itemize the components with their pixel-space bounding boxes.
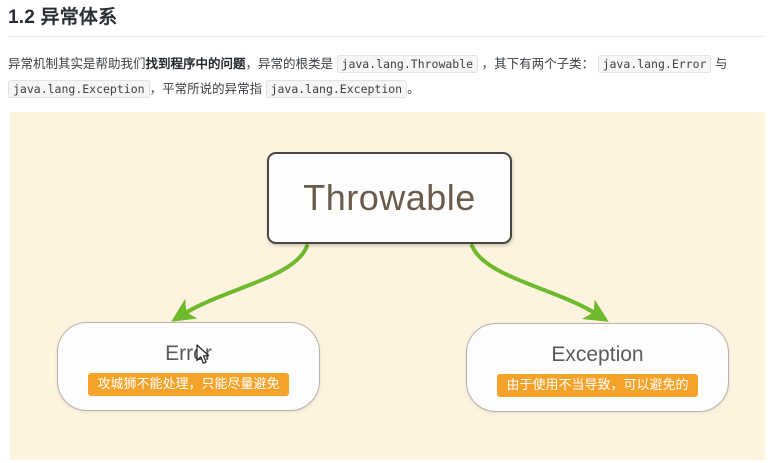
paragraph-text-4: 与 — [715, 57, 728, 71]
heading-divider — [8, 36, 766, 37]
page-title: 1.2 异常体系 — [8, 2, 117, 29]
code-chip-exception: java.lang.Exception — [8, 80, 150, 98]
paragraph-emphasis: 找到程序中的问题 — [146, 57, 246, 71]
arrow-throwable-to-exception — [472, 246, 598, 315]
node-exception-note: 由于使用不当导致，可以避免的 — [497, 374, 697, 397]
code-chip-exception-2: java.lang.Exception — [266, 80, 408, 98]
node-throwable-label: Throwable — [303, 180, 476, 216]
arrow-throwable-to-error — [182, 246, 307, 315]
paragraph-text-6: 。 — [407, 82, 420, 96]
node-error[interactable]: Error 攻城狮不能处理，只能尽量避免 — [57, 322, 320, 411]
code-chip-throwable: java.lang.Throwable — [337, 55, 479, 73]
paragraph-text-3: ，其下有两个子类： — [482, 57, 595, 71]
code-chip-error: java.lang.Error — [598, 55, 712, 73]
paragraph-text-2: ，异常的根类是 — [246, 57, 334, 71]
exception-hierarchy-diagram: Throwable Error 攻城狮不能处理，只能尽量避免 Exception… — [10, 112, 765, 460]
node-error-note: 攻城狮不能处理，只能尽量避免 — [88, 373, 288, 396]
node-error-label: Error — [165, 343, 212, 364]
node-exception-label: Exception — [551, 344, 643, 365]
intro-paragraph: 异常机制其实是帮助我们找到程序中的问题，异常的根类是 java.lang.Thr… — [8, 52, 768, 102]
paragraph-text-5: ，平常所说的异常指 — [150, 82, 263, 96]
paragraph-text-1: 异常机制其实是帮助我们 — [8, 57, 146, 71]
node-throwable[interactable]: Throwable — [267, 152, 512, 244]
node-exception[interactable]: Exception 由于使用不当导致，可以避免的 — [466, 323, 729, 412]
